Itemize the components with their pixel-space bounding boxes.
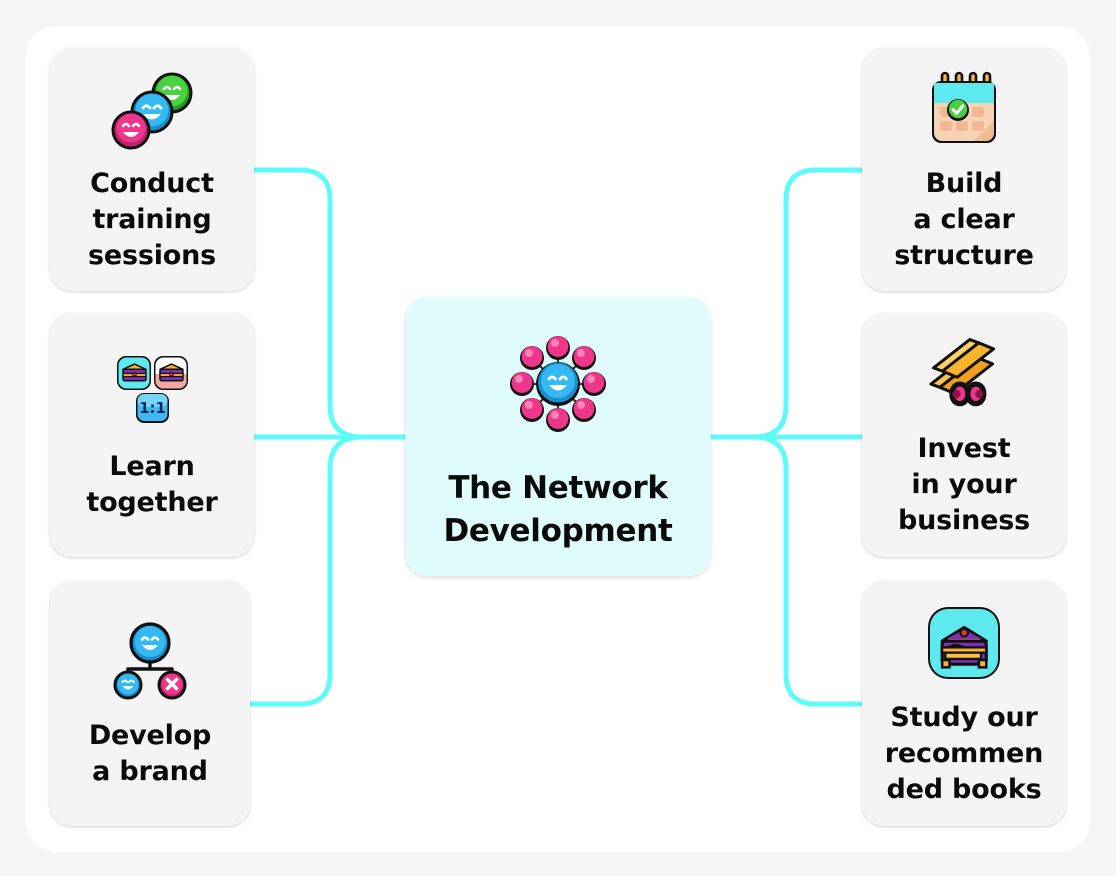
branch-card-label: Invest in your business	[898, 431, 1030, 539]
connector-books	[711, 437, 862, 704]
treasure-chest-icon	[919, 600, 1009, 686]
svg-text:1:1: 1:1	[139, 399, 166, 417]
gold-bars-infinity-icon	[919, 331, 1009, 417]
connector-conduct	[254, 170, 405, 437]
one-to-one-books-icon: 1:1	[107, 349, 197, 435]
center-node[interactable]: The Network Development	[405, 297, 711, 576]
branch-card-books[interactable]: Study our recommen ded books	[862, 581, 1066, 826]
branch-card-build[interactable]: Build a clear structure	[862, 48, 1066, 291]
branch-card-label: Learn together	[86, 449, 217, 521]
brand-hierarchy-icon	[105, 618, 195, 704]
connector-build	[711, 170, 862, 437]
branch-card-brand[interactable]: Develop a brand	[50, 581, 250, 826]
branch-card-label: Conduct training sessions	[88, 166, 216, 274]
calendar-check-icon	[919, 66, 1009, 152]
branch-card-invest[interactable]: Invest in your business	[862, 313, 1066, 557]
branch-card-label: Study our recommen ded books	[885, 700, 1043, 808]
branch-card-learn[interactable]: 1:1 Learn together	[50, 313, 254, 557]
training-faces-icon	[107, 66, 197, 152]
branch-card-label: Develop a brand	[89, 718, 211, 790]
branch-card-label: Build a clear structure	[894, 166, 1033, 274]
network-hub-icon	[483, 319, 633, 449]
mind-map-diagram: Conduct training sessions	[0, 0, 1116, 876]
branch-card-conduct[interactable]: Conduct training sessions	[50, 48, 254, 291]
center-node-title: The Network Development	[443, 467, 672, 553]
connector-brand	[250, 437, 405, 704]
